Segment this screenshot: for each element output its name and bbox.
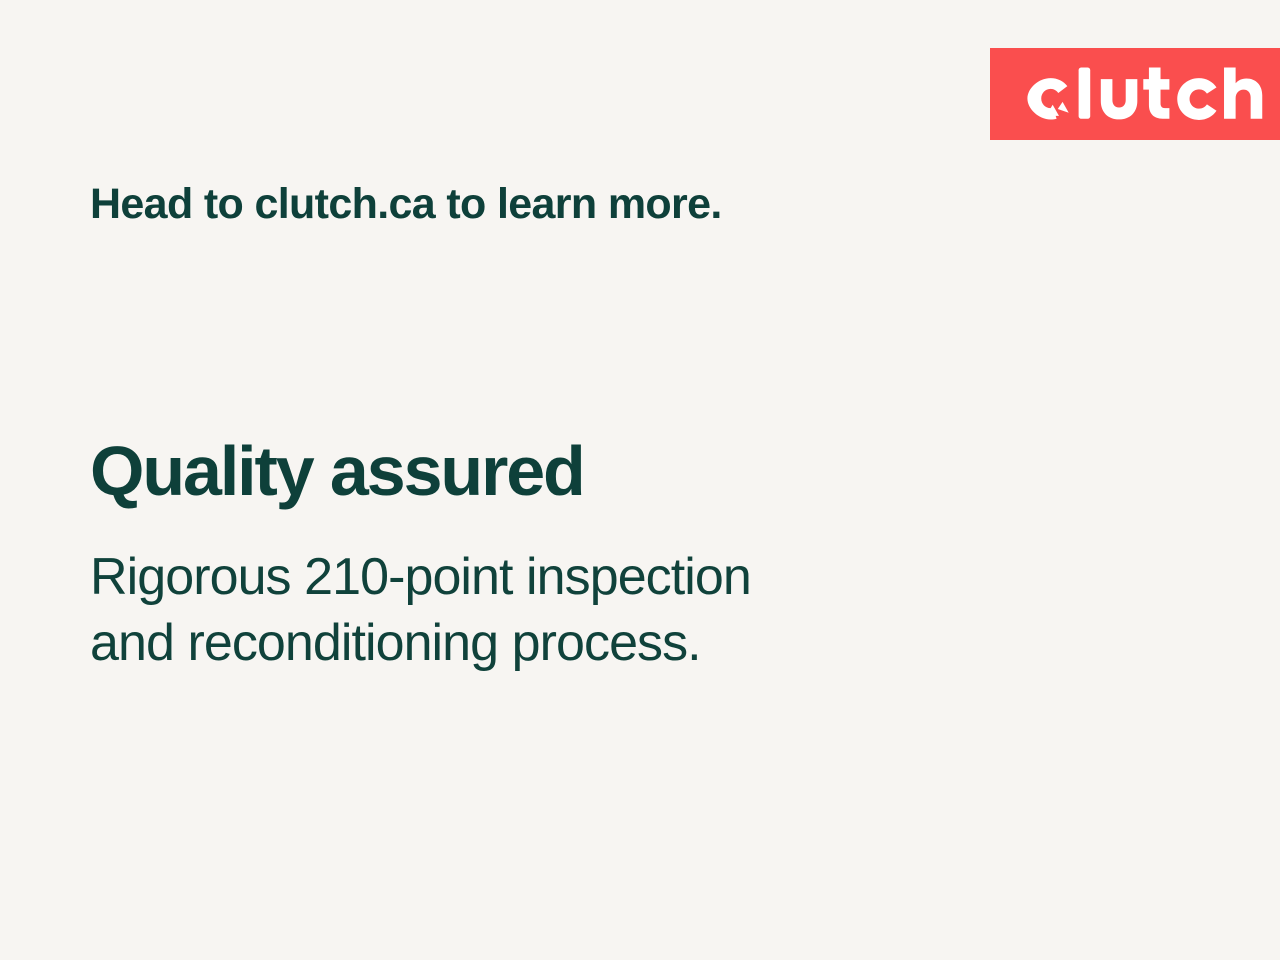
headline-text: Quality assured — [90, 434, 1090, 510]
subcopy-line-1: Rigorous 210-point inspection — [90, 545, 1010, 611]
clutch-wordmark-logo — [1024, 66, 1280, 122]
clutch-brand-badge — [990, 48, 1280, 140]
kicker-text: Head to clutch.ca to learn more. — [90, 180, 1090, 228]
subcopy-block: Rigorous 210-point inspection and recond… — [90, 545, 1010, 676]
subcopy-line-2: and reconditioning process. — [90, 611, 1010, 677]
promo-slide: Head to clutch.ca to learn more. Quality… — [0, 0, 1280, 960]
